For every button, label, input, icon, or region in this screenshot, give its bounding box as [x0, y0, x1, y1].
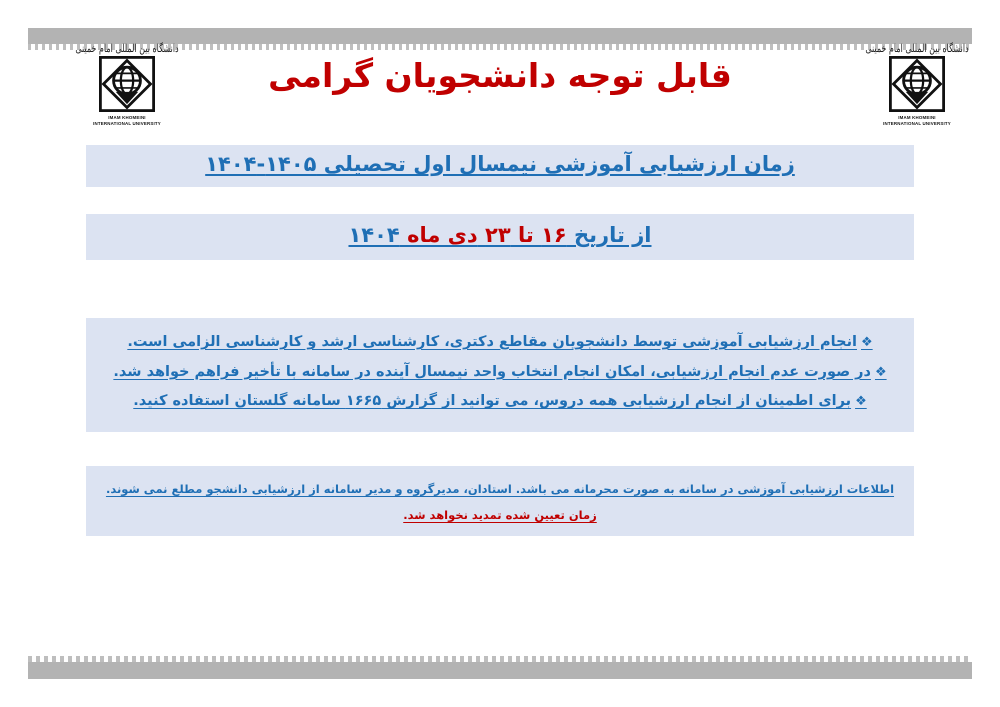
note-line-no-extension: زمان تعیین شده تمدید نخواهد شد. [98, 502, 902, 528]
logo-caption-right-line2: INTERNATIONAL UNIVERSITY [862, 121, 972, 127]
list-item-label: در صورت عدم انجام ارزشیابی، امکان انجام … [113, 364, 871, 380]
list-item-label: انجام ارزشیابی آموزشی توسط دانشجویان مقا… [127, 334, 857, 350]
list-item-label: برای اطمینان از انجام ارزشیابی همه دروس،… [133, 393, 851, 409]
list-item: ❖برای اطمینان از انجام ارزشیابی همه دروس… [100, 387, 900, 417]
semester-text: زمان ارزشیابی آموزشی نیمسال اول تحصیلی ۱… [86, 152, 914, 176]
logo-caption-left: IMAM KHOMEINI INTERNATIONAL UNIVERSITY [72, 115, 182, 128]
dates-prefix: از تاریخ [567, 223, 652, 247]
note-line-confidentiality: اطلاعات ارزشیابی آموزشی در سامانه به صور… [98, 476, 902, 502]
diamond-bullet-icon: ❖ [851, 394, 867, 409]
semester-panel: زمان ارزشیابی آموزشی نیمسال اول تحصیلی ۱… [86, 145, 914, 187]
list-item: ❖در صورت عدم انجام ارزشیابی، امکان انجام… [100, 358, 900, 388]
dates-year: ۱۴۰۴ [348, 223, 399, 247]
requirements-panel: ❖انجام ارزشیابی آموزشی توسط دانشجویان مق… [86, 318, 914, 432]
logo-script-left: دانشگاه بین المللی امام خمینی [72, 42, 182, 55]
dates-month: دی ماه [400, 223, 478, 247]
list-item: ❖انجام ارزشیابی آموزشی توسط دانشجویان مق… [100, 328, 900, 358]
logo-script-right: دانشگاه بین المللی امام خمینی [862, 42, 972, 55]
torn-edge-band-bottom [28, 662, 972, 679]
diamond-bullet-icon: ❖ [871, 365, 887, 380]
page-title: قابل توجه دانشجویان گرامی [0, 56, 1000, 95]
confidentiality-note-panel: اطلاعات ارزشیابی آموزشی در سامانه به صور… [86, 466, 914, 536]
logo-caption-right: IMAM KHOMEINI INTERNATIONAL UNIVERSITY [862, 115, 972, 128]
dates-panel: از تاریخ ۱۶ تا ۲۳ دی ماه ۱۴۰۴ [86, 214, 914, 260]
logo-caption-left-line2: INTERNATIONAL UNIVERSITY [72, 121, 182, 127]
diamond-bullet-icon: ❖ [857, 335, 873, 350]
dates-text: از تاریخ ۱۶ تا ۲۳ دی ماه ۱۴۰۴ [86, 223, 914, 247]
dates-range: ۱۶ تا ۲۳ [478, 223, 567, 247]
announcement-page: دانشگاه بین المللی امام خمینی IMAM KHOME… [0, 0, 1000, 707]
